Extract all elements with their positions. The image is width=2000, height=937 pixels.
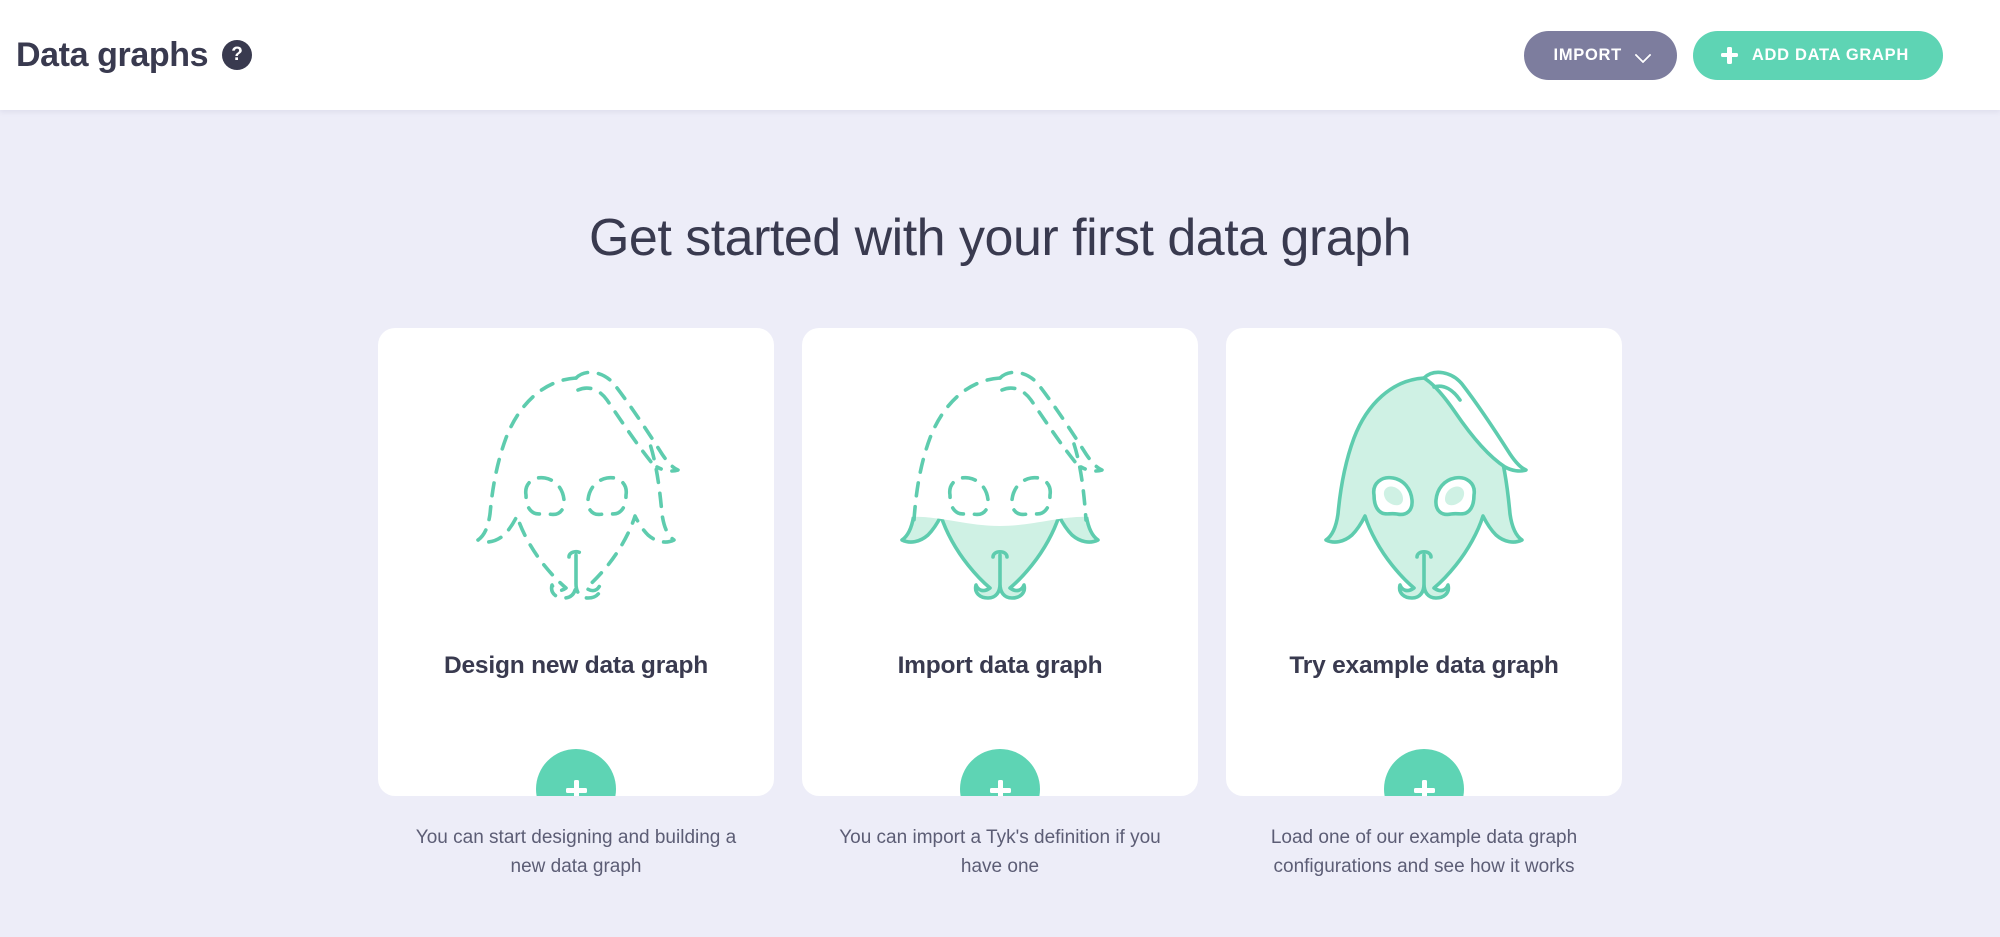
card-design-new-data-graph[interactable]: Design new data graph: [378, 328, 774, 796]
add-data-graph-button[interactable]: ADD DATA GRAPH: [1693, 31, 1943, 80]
plus-icon: [566, 780, 587, 797]
header-actions-group: IMPORT ADD DATA GRAPH: [1524, 31, 1943, 80]
card-column-import: Import data graph You can import a Tyk's…: [802, 328, 1198, 882]
import-button[interactable]: IMPORT: [1524, 31, 1677, 80]
header-left-group: Data graphs ?: [16, 36, 252, 75]
card-column-example: Try example data graph Load one of our e…: [1226, 328, 1622, 882]
onboarding-cards-row: Design new data graph You can start desi…: [0, 328, 2000, 882]
card-add-fab-button[interactable]: [960, 749, 1040, 796]
plus-icon: [1414, 780, 1435, 797]
get-started-heading: Get started with your first data graph: [0, 210, 2000, 267]
card-description: You can import a Tyk's definition if you…: [835, 824, 1165, 882]
card-title: Try example data graph: [1289, 652, 1558, 680]
tyk-mascot-outline-dashed-illustration: [426, 350, 726, 650]
card-title: Import data graph: [898, 652, 1103, 680]
card-description: Load one of our example data graph confi…: [1259, 824, 1589, 882]
plus-icon: [1721, 47, 1738, 64]
chevron-down-icon: [1636, 48, 1651, 63]
question-mark-circle-icon[interactable]: ?: [222, 40, 252, 70]
tyk-mascot-half-filled-illustration: [850, 350, 1150, 650]
card-add-fab-button[interactable]: [1384, 749, 1464, 796]
card-add-fab-button[interactable]: [536, 749, 616, 796]
card-description: You can start designing and building a n…: [411, 824, 741, 882]
page-title: Data graphs: [16, 36, 208, 75]
plus-icon: [990, 780, 1011, 797]
card-title: Design new data graph: [444, 652, 708, 680]
import-button-label: IMPORT: [1554, 46, 1622, 65]
card-import-data-graph[interactable]: Import data graph: [802, 328, 1198, 796]
add-data-graph-button-label: ADD DATA GRAPH: [1752, 46, 1909, 65]
card-try-example-data-graph[interactable]: Try example data graph: [1226, 328, 1622, 796]
app-header: Data graphs ? IMPORT ADD DATA GRAPH: [0, 0, 2000, 110]
main-content: Get started with your first data graph D: [0, 110, 2000, 937]
tyk-mascot-filled-illustration: [1274, 350, 1574, 650]
card-column-design: Design new data graph You can start desi…: [378, 328, 774, 882]
